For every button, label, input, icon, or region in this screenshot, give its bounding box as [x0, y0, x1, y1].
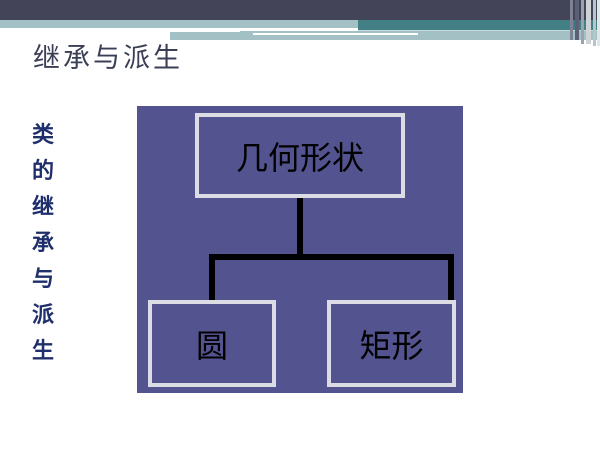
header-stripe-1	[570, 0, 573, 40]
side-caption-char: 与	[26, 262, 60, 298]
side-caption: 类的继承与派生	[26, 118, 60, 370]
side-caption-char: 派	[26, 298, 60, 334]
side-caption-char: 生	[26, 334, 60, 370]
diagram-node-root[interactable]: 几何形状	[195, 113, 405, 198]
connector-horizontal	[209, 254, 454, 260]
header-stripe-5	[593, 0, 596, 46]
connector-right-drop	[448, 254, 454, 302]
header-stripe-2	[575, 0, 579, 40]
side-caption-char: 类	[26, 118, 60, 154]
header-teal-band	[358, 20, 600, 30]
diagram-node-rectangle[interactable]: 矩形	[327, 300, 456, 387]
connector-left-drop	[209, 254, 215, 302]
header-stripe-4	[586, 0, 591, 44]
diagram-panel: 几何形状 圆 矩形	[137, 106, 463, 393]
header-stripe-3	[581, 0, 584, 44]
diagram-node-circle[interactable]: 圆	[148, 300, 276, 387]
page-title: 继承与派生	[33, 42, 183, 76]
slide-canvas: 继承与派生 类的继承与派生 几何形状 圆 矩形	[0, 0, 600, 450]
side-caption-char: 继	[26, 190, 60, 226]
header-dark-band	[0, 0, 600, 20]
connector-root-stem	[297, 198, 303, 254]
side-caption-char: 承	[26, 226, 60, 262]
header-white-slit	[253, 33, 418, 35]
side-caption-char: 的	[26, 154, 60, 190]
header-pale-left-band	[0, 20, 358, 28]
header-white-gap	[0, 28, 240, 32]
